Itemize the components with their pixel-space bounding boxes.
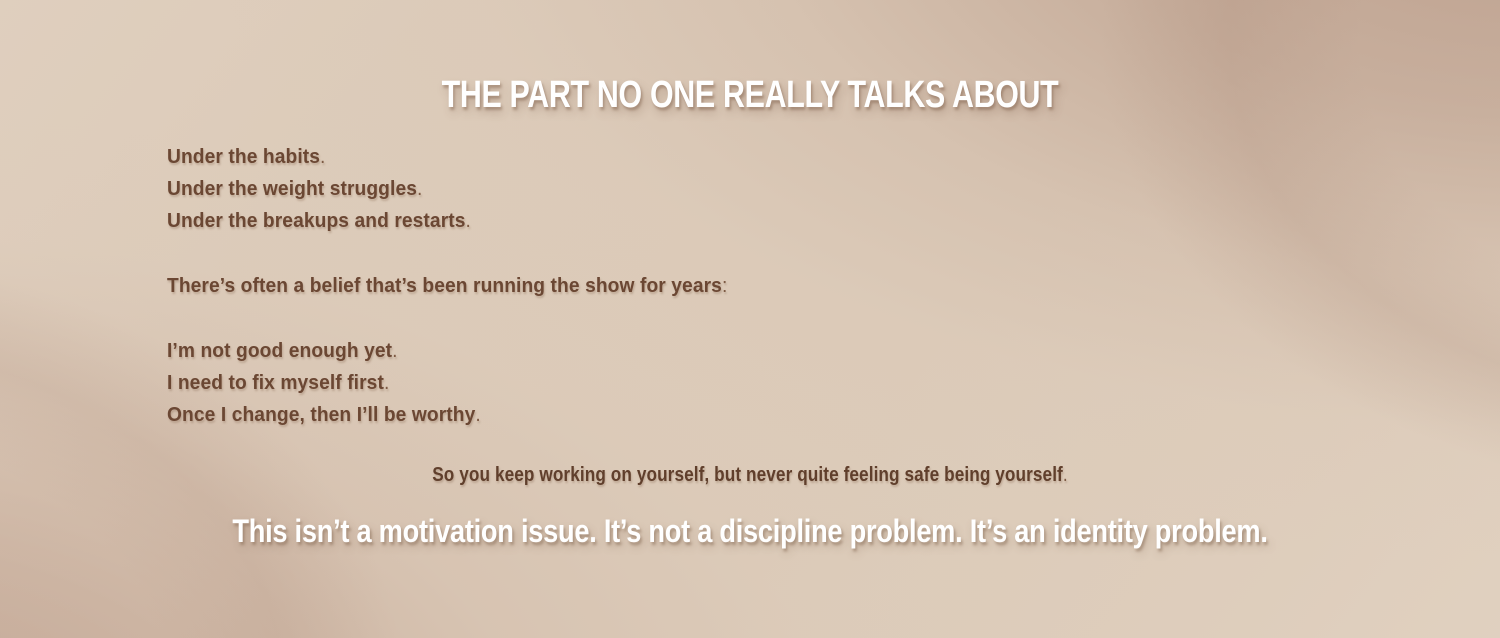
line-punct: . — [392, 340, 397, 362]
text-line: I’m not good enough yet. — [167, 335, 481, 367]
text-line: Once I change, then I’ll be worthy. — [167, 399, 481, 431]
line-punct: . — [466, 210, 471, 232]
text-line: Under the weight struggles. — [167, 173, 471, 205]
summary-line: So you keep working on yourself, but nev… — [105, 464, 1395, 487]
text-block-under: Under the habits. Under the weight strug… — [167, 141, 484, 237]
slide-canvas: THE PART NO ONE REALLY TALKS ABOUT Under… — [0, 0, 1500, 638]
line-text: Under the weight struggles — [167, 178, 417, 200]
slide-content: THE PART NO ONE REALLY TALKS ABOUT Under… — [0, 0, 1500, 638]
kicker-line: This isn’t a motivation issue. It’s not … — [113, 513, 1388, 550]
text-line: Under the habits. — [167, 141, 471, 173]
line-punct: . — [417, 178, 422, 200]
summary-line-text: So you keep working on yourself, but nev… — [432, 464, 1063, 486]
line-text: I’m not good enough yet — [167, 340, 392, 362]
line-text: Under the habits — [167, 146, 320, 168]
text-line: I need to fix myself first. — [167, 367, 481, 399]
summary-line-punct: . — [1063, 464, 1068, 486]
text-line: Under the breakups and restarts. — [167, 205, 471, 237]
line-punct: : — [722, 275, 727, 297]
text-block-belief: There’s often a belief that’s been runni… — [167, 270, 751, 302]
line-text: There’s often a belief that’s been runni… — [167, 275, 722, 297]
line-text: I need to fix myself first — [167, 372, 384, 394]
text-line: There’s often a belief that’s been runni… — [167, 270, 727, 302]
line-punct: . — [384, 372, 389, 394]
line-text: Once I change, then I’ll be worthy — [167, 404, 475, 426]
line-punct: . — [475, 404, 480, 426]
text-block-claims: I’m not good enough yet. I need to fix m… — [167, 335, 494, 431]
line-text: Under the breakups and restarts — [167, 210, 466, 232]
page-title: THE PART NO ONE REALLY TALKS ABOUT — [150, 74, 1350, 117]
line-punct: . — [320, 146, 325, 168]
